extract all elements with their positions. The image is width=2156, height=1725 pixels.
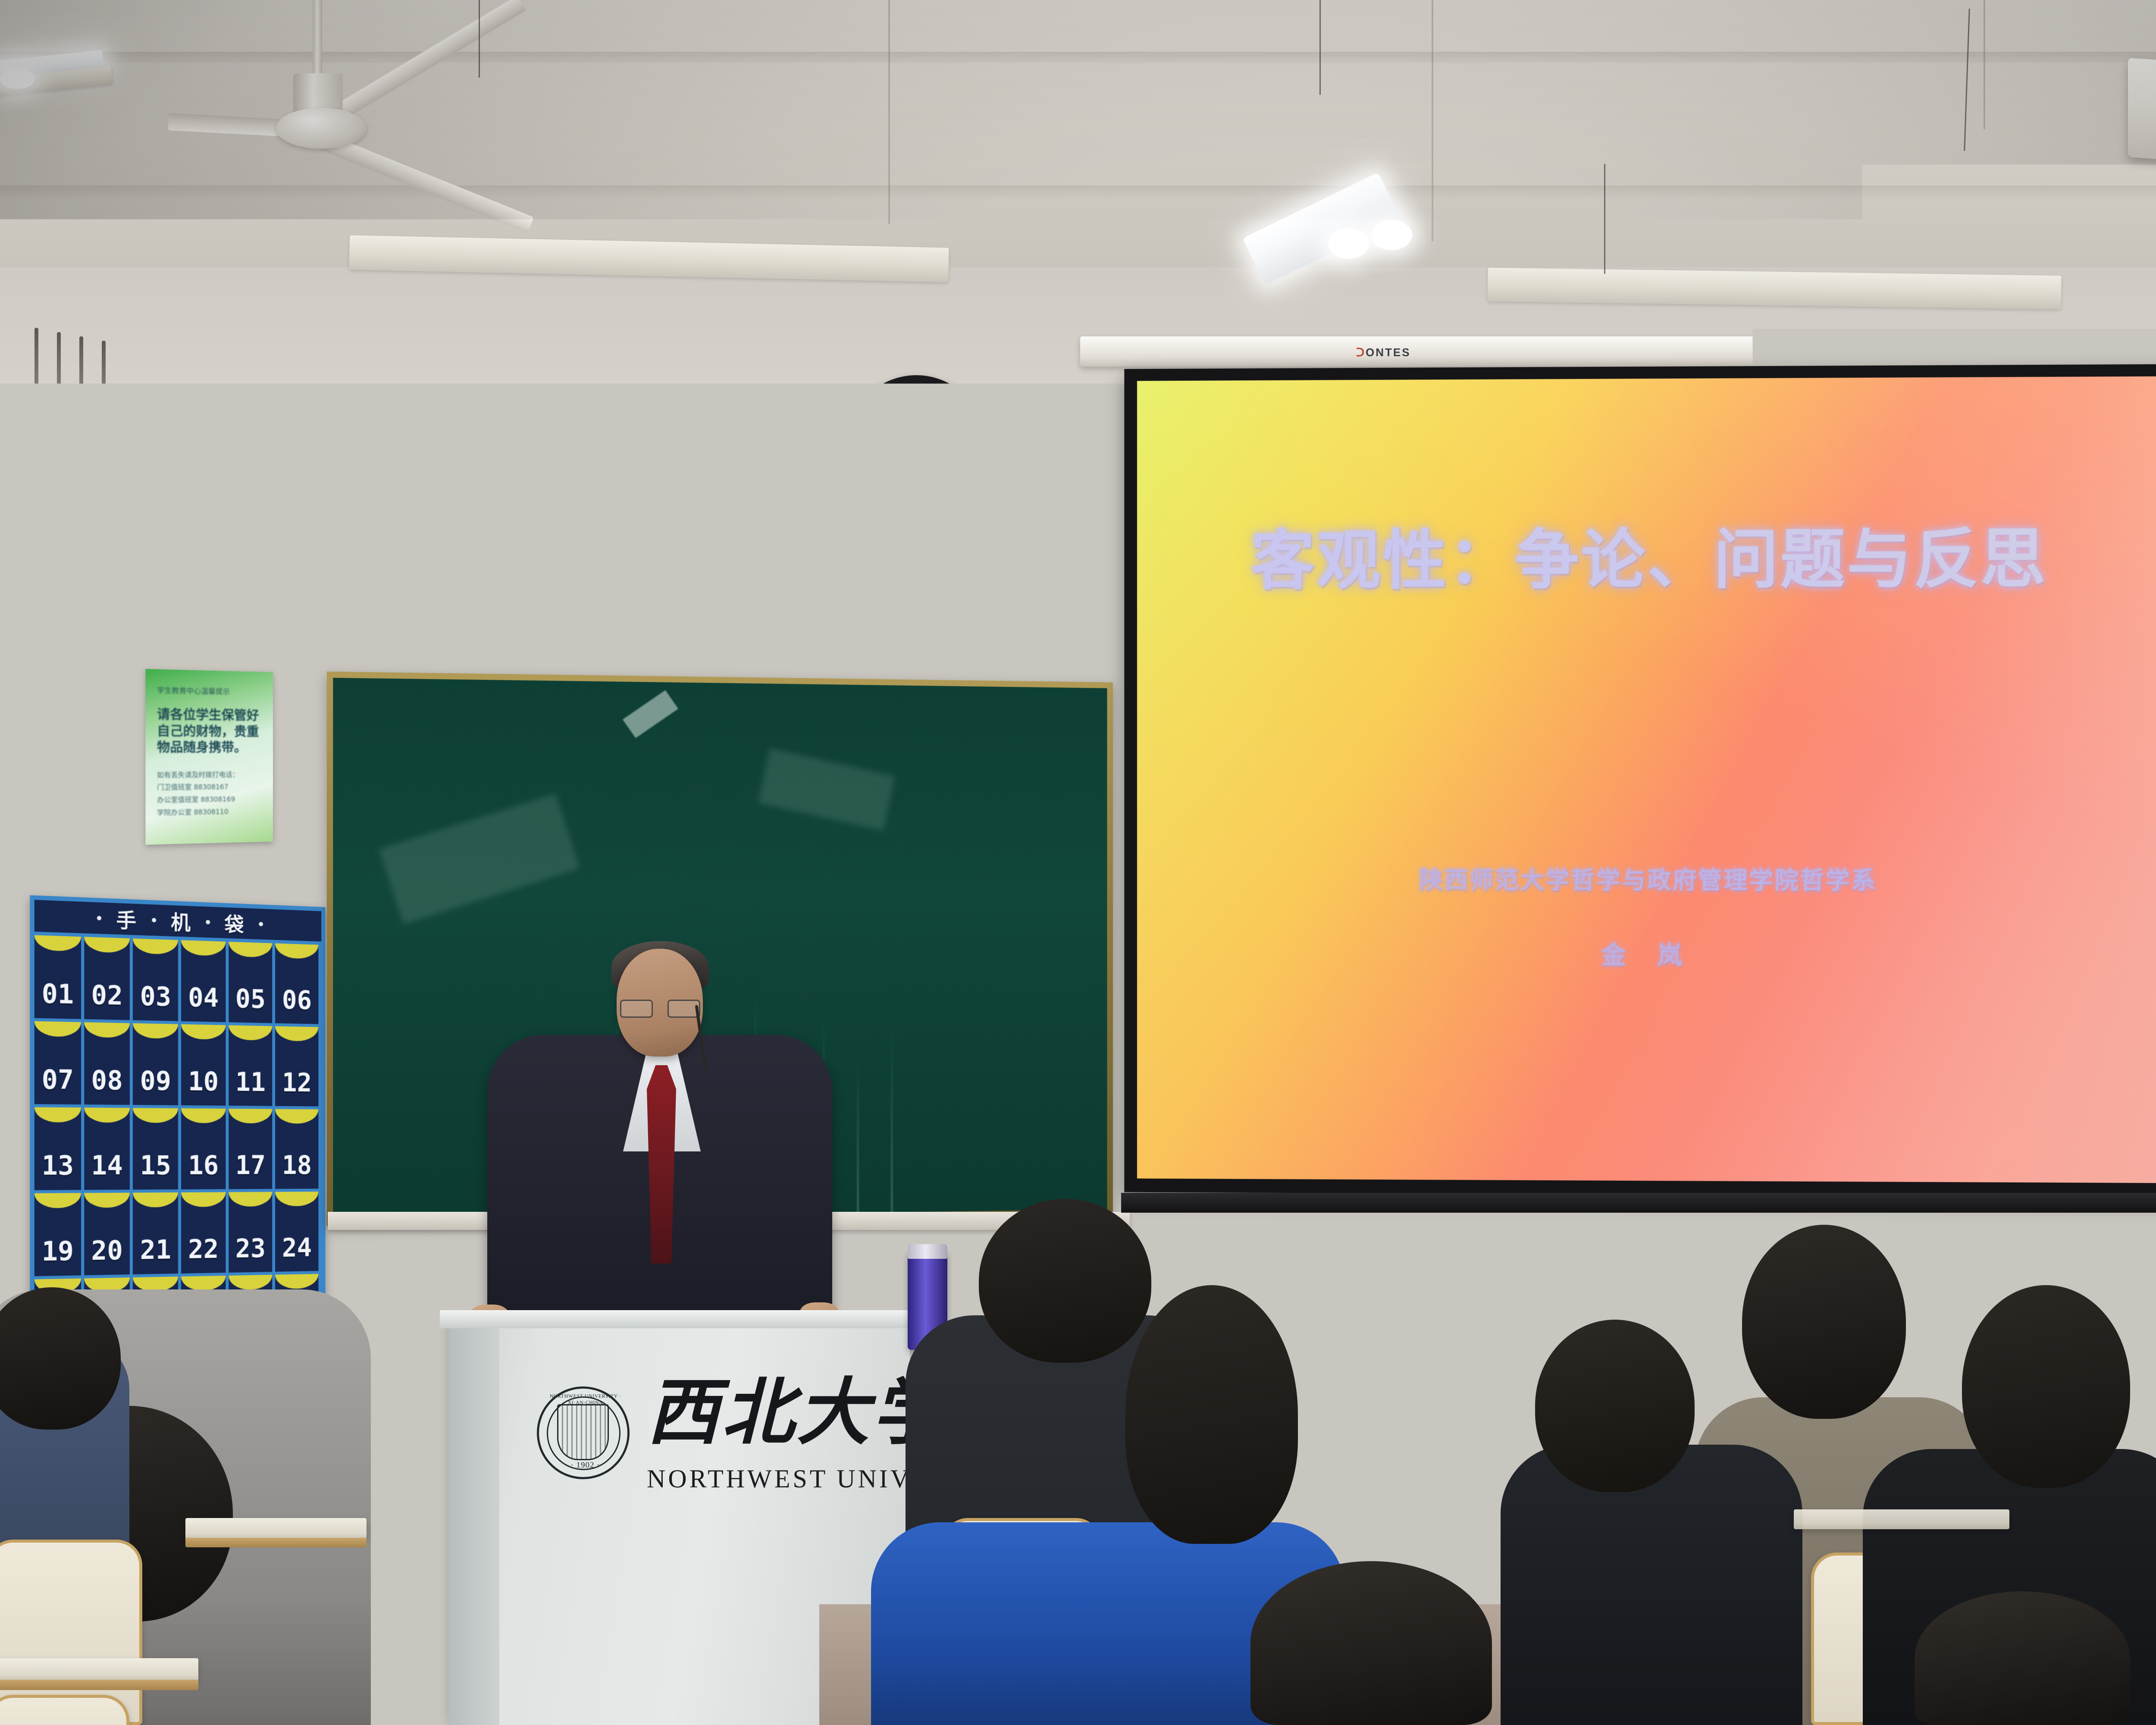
ceiling-seam <box>1984 0 1985 129</box>
phone-pocket-slot-number: 03 <box>140 981 171 1012</box>
decor-dot <box>97 916 101 921</box>
student-desk <box>0 1658 198 1681</box>
chair-back <box>0 1695 129 1725</box>
phone-pocket-slot-number: 20 <box>91 1236 122 1267</box>
audience-person-head <box>1915 1591 2130 1725</box>
phone-pocket-slot[interactable]: 11 <box>229 1025 275 1109</box>
audience-person-body <box>1501 1445 1802 1725</box>
audience-person-head <box>1535 1320 1695 1492</box>
clock-numeral: 5 <box>936 481 953 498</box>
phone-pocket-slot-number: 04 <box>188 982 219 1013</box>
phone-pocket-slot-number: 02 <box>91 980 122 1011</box>
status-led-green <box>219 453 225 459</box>
decor-dot <box>259 922 263 926</box>
phone-pocket-slot-number: 19 <box>42 1236 74 1267</box>
clock-numeral: 12 <box>908 390 925 406</box>
clock-numeral: 4 <box>953 467 971 484</box>
clock-numeral: 11 <box>880 398 897 415</box>
antenna-rod <box>57 332 61 405</box>
clock-hour-hand <box>915 445 928 480</box>
phone-pocket-title-char: 袋 <box>225 909 245 938</box>
phone-pocket-slot-number: 07 <box>42 1064 74 1095</box>
slide-author: 金 岚 <box>1137 934 2156 972</box>
clock-face: Casio 12 1 2 3 4 5 6 7 8 9 10 11 <box>858 386 975 503</box>
wall-slogan: 勤 奋 严 谨 <box>487 509 1078 595</box>
clock-numeral: 8 <box>865 467 883 484</box>
phone-pocket-slot-number: 13 <box>42 1151 74 1182</box>
phone-pocket-slot-number: 17 <box>235 1151 266 1180</box>
phone-pocket-slot-number: 24 <box>282 1233 312 1263</box>
phone-pocket-slot[interactable]: 20 <box>84 1193 133 1279</box>
clock-numeral: 1 <box>938 398 955 415</box>
slide-title: 客观性：争论、问题与反思 <box>1137 524 2156 596</box>
phone-pocket-slot[interactable]: 05 <box>229 942 275 1026</box>
ceiling-fan <box>185 0 694 198</box>
seal-year: · 1902 · <box>539 1461 632 1470</box>
phone-pocket-slot-number: 11 <box>235 1067 266 1098</box>
antenna-rod <box>102 341 106 405</box>
tube-bulb <box>1371 220 1412 250</box>
phone-pocket-slot[interactable]: 16 <box>181 1108 229 1192</box>
phone-pocket-slot-number: 09 <box>140 1066 171 1097</box>
phone-pocket-slot[interactable]: 24 <box>275 1192 321 1275</box>
fan-hub <box>276 108 367 149</box>
clock-numeral: 7 <box>882 481 899 498</box>
phone-pocket-slot[interactable]: 02 <box>84 937 133 1023</box>
brand-mark-icon: ᑐ <box>1356 346 1366 359</box>
wall-clock: Casio 12 1 2 3 4 5 6 7 8 9 10 11 <box>847 375 985 513</box>
projection-screen: 客观性：争论、问题与反思 陕西师范大学哲学与政府管理学院哲学系 金 岚 <box>1137 376 2156 1183</box>
phone-pocket-slot[interactable]: 10 <box>181 1024 229 1109</box>
phone-pocket-slot[interactable]: 01 <box>34 935 84 1022</box>
podium-name-cn: 西北大学 <box>647 1376 947 1448</box>
light-hang-wire <box>479 0 480 78</box>
phone-pocket-slot[interactable]: 15 <box>133 1108 181 1192</box>
light-hang-wire <box>1319 0 1321 95</box>
phone-pocket-title-char: 手 <box>116 904 137 934</box>
status-led-red <box>218 412 224 418</box>
tube-bulb <box>0 69 34 89</box>
slogan-char: 谨 <box>992 509 1078 595</box>
seal-shield-emblem <box>557 1404 609 1460</box>
screen-brand-logo: ᑐONTES <box>1356 346 1411 359</box>
slogan-char: 奋 <box>655 509 742 595</box>
phone-pocket-slot[interactable]: 18 <box>275 1109 321 1192</box>
audience-person-head <box>979 1199 1151 1363</box>
phone-pocket-slot[interactable]: 08 <box>84 1022 133 1108</box>
clock-minute-hand <box>915 401 942 446</box>
phone-pocket-slot[interactable]: 06 <box>275 943 321 1027</box>
phone-pocket-slot-number: 14 <box>91 1151 122 1181</box>
dome-camera <box>326 464 377 503</box>
photographer-hand-left <box>129 1264 185 1350</box>
eyeglasses-icon <box>620 1000 702 1018</box>
phone-pocket-slot[interactable]: 03 <box>133 938 181 1024</box>
phone-pocket-slot[interactable]: 13 <box>34 1107 84 1193</box>
light-hang-wire <box>1604 164 1605 274</box>
black-thermos[interactable] <box>1457 1333 1514 1475</box>
phone-pocket-slot-number: 06 <box>282 985 312 1015</box>
poster-contact-0: 如有丢失请及时拨打电话： <box>157 768 262 781</box>
projection-screen-case: ᑐONTES <box>1080 336 2156 367</box>
antenna-rod <box>79 336 83 405</box>
decor-dot <box>206 920 210 924</box>
audience-person-head <box>1742 1225 1906 1419</box>
fan-rod <box>313 0 322 78</box>
chalk-smudge <box>758 748 895 831</box>
notice-poster: 学生教育中心温馨提示 请各位学生保管好自己的财物，贵重物品随身携带。 如有丢失请… <box>145 669 273 845</box>
poster-heading: 学生教育中心温馨提示 <box>157 684 262 697</box>
phone-pocket-slot-number: 12 <box>282 1068 312 1098</box>
decor-dot <box>152 918 156 922</box>
phone-pocket-slot[interactable]: 09 <box>133 1023 181 1108</box>
phone-pocket-slot-number: 08 <box>91 1065 122 1096</box>
poster-contact-1: 门卫值班室 88308167 <box>157 781 262 794</box>
university-seal: NORTHWEST UNIVERSITY · XI·AN·CHINA · 190… <box>537 1386 630 1479</box>
phone-pocket-slot[interactable]: 19 <box>34 1193 84 1279</box>
audience-person-head <box>1962 1285 2130 1488</box>
clock-numeral: 3 <box>959 445 977 461</box>
podium-left-face <box>448 1328 499 1725</box>
audience-person-head <box>1250 1561 1492 1725</box>
desk-edge <box>0 1680 198 1690</box>
phone-pocket-slot[interactable]: 14 <box>84 1107 133 1193</box>
chalk-streak <box>890 1028 893 1212</box>
wall-equipment-box <box>24 436 132 548</box>
projection-screen-border: 客观性：争论、问题与反思 陕西师范大学哲学与政府管理学院哲学系 金 岚 <box>1124 364 2156 1197</box>
slogan-char: 严 <box>824 509 910 595</box>
clock-numeral: 9 <box>859 445 877 461</box>
phone-pocket-slot-number: 15 <box>140 1151 171 1181</box>
slide-affiliation: 陕西师范大学哲学与政府管理学院哲学系 <box>1137 866 2156 896</box>
desk-edge <box>185 1538 367 1547</box>
tube-bulb <box>1328 229 1369 259</box>
phone-pocket-slot-number: 16 <box>188 1151 219 1181</box>
phone-pocket-slot[interactable]: 04 <box>181 940 229 1025</box>
ceiling-seam <box>888 0 890 224</box>
phone-pocket-slot-number: 05 <box>235 984 266 1014</box>
blackboard-tape <box>623 690 678 738</box>
antenna-rod <box>34 328 38 405</box>
poster-body: 请各位学生保管好自己的财物，贵重物品随身携带。 <box>157 706 262 756</box>
student-desk <box>185 1518 367 1540</box>
clock-numeral: 2 <box>955 420 972 436</box>
audience-person-head <box>1125 1285 1298 1544</box>
poster-contact-3: 学院办公室 88308110 <box>157 805 262 819</box>
brand-text: ONTES <box>1366 346 1411 359</box>
phone-pocket-slot[interactable]: 12 <box>275 1026 321 1110</box>
camera-lens <box>338 477 363 496</box>
thermos-cap <box>1460 1320 1511 1339</box>
podium-top <box>440 1310 918 1328</box>
chalk-smudge <box>379 793 580 924</box>
projection-screen-weight-bar <box>1121 1193 2156 1213</box>
phone-pocket-slot-number: 01 <box>42 979 74 1010</box>
clock-center-pin <box>925 453 929 457</box>
wall-control-box <box>203 399 302 498</box>
student-desk <box>1794 1509 2009 1529</box>
phone-pocket-slot-number: 10 <box>188 1066 219 1097</box>
slogan-char: 勤 <box>487 509 573 595</box>
phone-pocket-slot[interactable]: 17 <box>229 1109 275 1192</box>
photographer-hand-right <box>241 1264 298 1350</box>
poster-contact-2: 办公室值班室 88308169 <box>157 793 262 807</box>
clock-numeral: 6 <box>909 485 926 501</box>
lecture-hall-photo: 勤 奋 严 谨 Casio 12 1 2 3 4 5 6 7 8 9 10 11 <box>0 0 2156 1725</box>
phone-pocket-title-char: 机 <box>171 906 191 936</box>
ceiling-seam <box>1432 0 1433 241</box>
lecturer-tie <box>647 1065 676 1264</box>
chalk-streak <box>857 1058 859 1213</box>
phone-pocket-slot[interactable]: 07 <box>34 1021 84 1107</box>
thermos-cap <box>908 1244 947 1259</box>
phone-pocket-slot-number: 18 <box>282 1151 312 1180</box>
glasses-lens-left <box>620 1000 653 1018</box>
